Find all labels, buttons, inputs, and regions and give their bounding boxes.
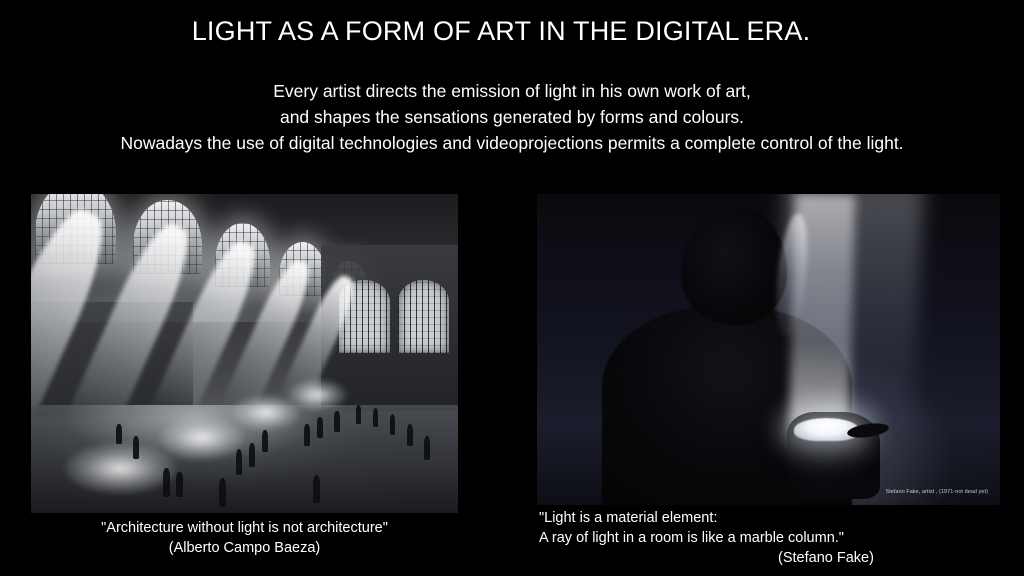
light-pool-1 <box>65 443 176 494</box>
crowd-figure <box>334 411 340 432</box>
crowd-figure <box>304 424 310 446</box>
crowd-figure <box>390 414 396 435</box>
crowd-figure <box>116 424 122 445</box>
man-head-silhouette <box>681 206 787 324</box>
photo-watermark: Stefano Fake, artist , (1971-not dead ye… <box>886 489 988 495</box>
crowd-figure <box>424 436 430 460</box>
photo-grand-central <box>31 194 458 513</box>
crowd-figure <box>407 424 413 446</box>
body-line-2: and shapes the sensations generated by f… <box>0 104 1024 130</box>
caption-left-quote: "Architecture without light is not archi… <box>101 520 388 536</box>
crowd-figure <box>313 475 320 504</box>
caption-right-attribution: (Stefano Fake) <box>539 548 1001 568</box>
crowd-figure <box>176 472 182 498</box>
crowd-figure <box>356 405 361 424</box>
caption-right: "Light is a material element: A ray of l… <box>539 508 1001 568</box>
body-line-1: Every artist directs the emission of lig… <box>0 78 1024 104</box>
caption-left-attribution: (Alberto Campo Baeza) <box>31 538 458 558</box>
crowd-figure <box>262 430 268 452</box>
photo-man-with-light: Stefano Fake, artist , (1971-not dead ye… <box>537 194 1000 505</box>
crowd-figure <box>249 443 255 467</box>
caption-right-line-1: "Light is a material element: <box>539 508 1001 528</box>
body-line-3: Nowadays the use of digital technologies… <box>0 130 1024 156</box>
grand-central-scene <box>31 194 458 513</box>
light-pool-4 <box>287 379 347 411</box>
caption-left: "Architecture without light is not archi… <box>31 518 458 558</box>
crowd-figure <box>236 449 242 475</box>
crowd-figure <box>163 468 170 497</box>
crowd-figure <box>133 436 139 458</box>
east-window-2 <box>398 280 449 353</box>
crowd-figure <box>317 417 323 438</box>
light-pool-2 <box>159 417 244 458</box>
crowd-figure <box>219 478 226 507</box>
man-with-light-scene: Stefano Fake, artist , (1971-not dead ye… <box>537 194 1000 505</box>
body-paragraph: Every artist directs the emission of lig… <box>0 78 1024 156</box>
page-title: LIGHT AS A FORM OF ART IN THE DIGITAL ER… <box>0 16 1013 47</box>
crowd-figure <box>373 408 378 427</box>
caption-right-line-2: A ray of light in a room is like a marbl… <box>539 528 1001 548</box>
slide-canvas: LIGHT AS A FORM OF ART IN THE DIGITAL ER… <box>0 0 1024 576</box>
